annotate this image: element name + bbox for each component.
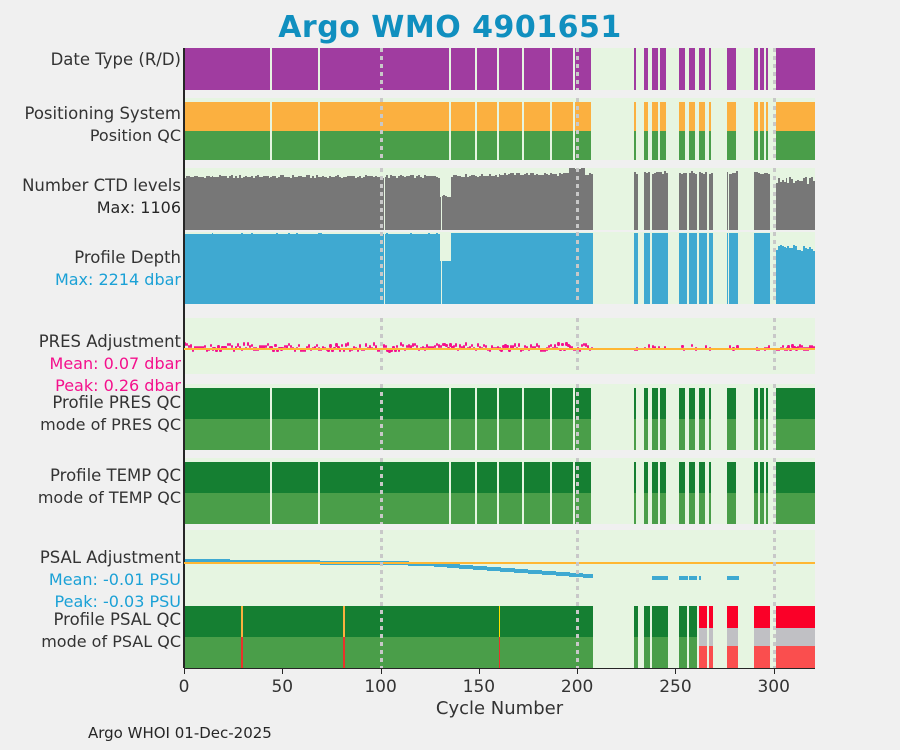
temp-qc-bar-bottom: [499, 493, 523, 524]
temp-qc-bar-top: [272, 462, 317, 493]
profile-depth-bar: [736, 233, 738, 304]
pres-qc-bar-top: [679, 388, 685, 419]
pres-qc-bar-bottom: [766, 419, 768, 450]
ctd-levels-bar: [591, 174, 593, 230]
psal-qc-flag-top: [241, 606, 243, 637]
psal-qc-bar-bottom: [272, 637, 319, 668]
gridline-300: [773, 48, 776, 90]
pres-adjustment-point: [365, 343, 367, 346]
profile-depth-bar: [695, 233, 697, 304]
profile-depth-bar: [591, 233, 593, 304]
position-qc-bar: [477, 131, 497, 160]
pres-qc-bar-bottom: [552, 419, 574, 450]
x-tick-200: [577, 668, 578, 674]
pres-qc-bar-bottom: [499, 419, 523, 450]
psal-qc-bar-top: [652, 606, 660, 637]
pres-qc-bar-top: [766, 388, 768, 419]
pres-qc-bar-bottom: [709, 419, 711, 450]
pres-qc-bar-top: [727, 388, 737, 419]
position-qc-bar: [652, 131, 658, 160]
psal-qc-bar-bottom: [524, 637, 552, 668]
x-tick-label-0: 0: [179, 677, 190, 697]
x-tick-label-150: 150: [463, 677, 495, 697]
row-label-positioning-system-sub1: Position QC: [90, 126, 181, 145]
psal-qc-bar-bottom: [552, 637, 576, 668]
pres-qc-bar-bottom: [524, 419, 550, 450]
gridline-100: [380, 48, 383, 90]
row-label-profile-pres-qc: Profile PRES QC: [52, 393, 181, 412]
position-qc-bar: [776, 131, 815, 160]
temp-qc-bar-bottom: [660, 493, 666, 524]
positioning-system-bar: [689, 102, 695, 131]
date-type-bar: [320, 48, 450, 90]
temp-qc-bar-bottom: [644, 493, 648, 524]
row-label-pres-adjustment: PRES Adjustment: [39, 332, 181, 351]
ctd-levels-bar: [768, 174, 770, 230]
psal-qc-flag-bottom: [241, 637, 243, 668]
psal-qc-bar-bottom: [727, 646, 739, 668]
gridline-200: [576, 48, 579, 90]
row-label-number-ctd-levels-sub1: Max: 1106: [97, 198, 181, 217]
temp-qc-bar-top: [754, 462, 758, 493]
x-tick-label-250: 250: [659, 677, 691, 697]
panel-date-type: [184, 48, 815, 90]
pres-adjustment-point: [341, 344, 343, 347]
psal-qc-bar-missing: [699, 628, 707, 646]
date-type-bar: [524, 48, 550, 90]
gridline-300: [773, 602, 776, 668]
psal-qc-bar-bottom: [679, 637, 687, 668]
row-labels: Date Type (R/D)Positioning SystemPositio…: [0, 0, 181, 750]
temp-qc-bar-top: [760, 462, 764, 493]
date-type-bar: [679, 48, 685, 90]
row-label-profile-temp-qc-sub1: mode of TEMP QC: [38, 488, 181, 507]
profile-depth-bar: [666, 233, 668, 304]
temp-qc-bar-bottom: [776, 493, 815, 524]
x-tick-label-50: 50: [271, 677, 293, 697]
positioning-system-bar: [320, 102, 450, 131]
temp-qc-bar-top: [776, 462, 815, 493]
position-qc-bar: [184, 131, 270, 160]
pres-adjustment-point: [465, 342, 467, 345]
pres-qc-bar-top: [644, 388, 648, 419]
gridline-200: [576, 384, 579, 450]
pres-adjustment-point: [308, 344, 310, 347]
profile-depth-bar: [705, 233, 707, 304]
gridline-100: [380, 458, 383, 524]
psal-adjustment-point: [685, 576, 687, 580]
positioning-system-bar: [477, 102, 497, 131]
position-qc-bar: [709, 131, 711, 160]
psal-qc-bar-missing: [776, 628, 815, 646]
temp-qc-bar-top: [689, 462, 695, 493]
psal-qc-bar-bottom: [634, 637, 638, 668]
x-tick-label-300: 300: [757, 677, 789, 697]
profile-depth-bar: [768, 233, 770, 304]
pres-adjustment-point: [298, 344, 300, 347]
psal-qc-bar-top: [644, 606, 650, 637]
psal-adjustment-point: [699, 576, 701, 580]
panel-psal-qc: [184, 602, 815, 668]
gridline-100: [380, 232, 383, 304]
temp-qc-bar-bottom: [524, 493, 550, 524]
temp-qc-bar-bottom: [760, 493, 764, 524]
row-label-psal-adjustment-sub2: Peak: -0.03 PSU: [55, 592, 181, 611]
position-qc-bar: [634, 131, 636, 160]
gridline-200: [576, 530, 579, 602]
psal-qc-bar-bottom: [766, 646, 770, 668]
pres-qc-bar-top: [652, 388, 658, 419]
date-type-bar: [689, 48, 695, 90]
pres-adjustment-point: [648, 344, 650, 347]
position-qc-bar: [552, 131, 574, 160]
footer-credit: Argo WHOI 01-Dec-2025: [88, 724, 272, 742]
pres-qc-bar-top: [524, 388, 550, 419]
x-axis-label: Cycle Number: [184, 698, 815, 719]
gridline-200: [576, 458, 579, 524]
ctd-levels-bar: [705, 172, 707, 230]
pres-qc-bar-bottom: [320, 419, 450, 450]
pres-qc-bar-top: [499, 388, 523, 419]
row-label-psal-adjustment-sub1: Mean: -0.01 PSU: [49, 570, 181, 589]
gridline-100: [380, 384, 383, 450]
psal-qc-bar-top: [552, 606, 576, 637]
temp-qc-bar-top: [660, 462, 666, 493]
row-label-profile-depth: Profile Depth: [74, 248, 181, 267]
gridline-100: [380, 530, 383, 602]
pres-adjustment-point: [455, 343, 457, 346]
psal-qc-bar-top: [499, 606, 525, 637]
row-label-profile-pres-qc-sub1: mode of PRES QC: [40, 415, 181, 434]
date-type-bar: [660, 48, 666, 90]
temp-qc-bar-bottom: [451, 493, 475, 524]
positioning-system-bar: [727, 102, 737, 131]
date-type-bar: [477, 48, 497, 90]
psal-qc-bar-top: [766, 606, 770, 628]
temp-qc-bar-bottom: [652, 493, 658, 524]
pres-qc-bar-top: [451, 388, 475, 419]
positioning-system-bar: [451, 102, 475, 131]
pres-adjustment-point: [691, 344, 693, 347]
pres-qc-bar-top: [709, 388, 711, 419]
temp-qc-bar-bottom: [477, 493, 497, 524]
date-type-bar: [272, 48, 317, 90]
panel-depth: [184, 232, 815, 304]
psal-adjustment-point: [695, 576, 697, 580]
x-tick-label-200: 200: [561, 677, 593, 697]
pres-qc-bar-top: [689, 388, 695, 419]
ctd-levels-bar: [685, 173, 687, 230]
gridline-300: [773, 458, 776, 524]
temp-qc-bar-bottom: [320, 493, 450, 524]
temp-qc-bar-bottom: [699, 493, 705, 524]
psal-qc-bar-top: [727, 606, 739, 628]
psal-qc-bar-bottom: [184, 637, 272, 668]
profile-depth-bar: [685, 233, 687, 304]
date-type-bar: [451, 48, 475, 90]
pres-qc-bar-top: [776, 388, 815, 419]
row-label-pres-adjustment-sub1: Mean: 0.07 dbar: [50, 354, 181, 373]
ctd-levels-bar: [711, 173, 713, 230]
x-tick-300: [774, 668, 775, 674]
pres-qc-bar-bottom: [689, 419, 695, 450]
pres-qc-bar-bottom: [634, 419, 636, 450]
temp-qc-bar-bottom: [689, 493, 695, 524]
psal-qc-bar-top: [477, 606, 499, 637]
date-type-bar: [766, 48, 768, 90]
pres-qc-bar-top: [477, 388, 497, 419]
psal-qc-bar-bottom: [451, 637, 477, 668]
pres-adjustment-point: [518, 343, 520, 346]
x-tick-150: [479, 668, 480, 674]
temp-qc-bar-bottom: [552, 493, 574, 524]
pres-qc-bar-bottom: [660, 419, 666, 450]
date-type-bar: [760, 48, 764, 90]
row-label-date-type: Date Type (R/D): [51, 50, 181, 69]
date-type-bar: [699, 48, 705, 90]
gridline-300: [773, 384, 776, 450]
psal-qc-flag-bottom: [499, 637, 501, 668]
gridline-300: [773, 318, 776, 374]
temp-qc-bar-bottom: [272, 493, 317, 524]
temp-qc-bar-top: [184, 462, 270, 493]
position-qc-bar: [524, 131, 550, 160]
gridline-200: [576, 318, 579, 374]
temp-qc-bar-top: [652, 462, 658, 493]
positioning-system-bar: [499, 102, 523, 131]
ctd-levels-bar: [666, 173, 668, 230]
pres-qc-bar-top: [699, 388, 705, 419]
psal-qc-flag-bottom: [343, 637, 345, 668]
psal-qc-bar-top: [184, 606, 272, 637]
temp-qc-bar-top: [634, 462, 636, 493]
temp-qc-bar-bottom: [754, 493, 758, 524]
positioning-system-bar: [760, 102, 764, 131]
pres-qc-bar-bottom: [184, 419, 270, 450]
position-qc-bar: [644, 131, 648, 160]
gridline-100: [380, 168, 383, 230]
pres-qc-bar-top: [660, 388, 666, 419]
row-label-profile-psal-qc-sub1: mode of PSAL QC: [41, 632, 181, 651]
row-label-profile-temp-qc: Profile TEMP QC: [50, 466, 181, 485]
position-qc-bar: [760, 131, 764, 160]
psal-qc-bar-top: [660, 606, 668, 637]
gridline-100: [380, 318, 383, 374]
psal-qc-flag-top: [499, 606, 501, 637]
psal-qc-bar-top: [699, 606, 707, 628]
x-tick-50: [282, 668, 283, 674]
pres-qc-bar-top: [272, 388, 317, 419]
panel-psal-adj: [184, 530, 815, 602]
positioning-system-bar: [184, 102, 270, 131]
panel-pres-qc: [184, 384, 815, 450]
date-type-bar: [634, 48, 636, 90]
positioning-system-bar: [524, 102, 550, 131]
gridline-300: [773, 530, 776, 602]
temp-qc-bar-bottom: [184, 493, 270, 524]
ctd-levels-bar: [695, 174, 697, 230]
date-type-bar: [776, 48, 815, 90]
gridline-200: [576, 232, 579, 304]
pres-qc-bar-bottom: [776, 419, 815, 450]
positioning-system-bar: [766, 102, 768, 131]
pres-qc-bar-bottom: [272, 419, 317, 450]
pres-qc-bar-top: [634, 388, 636, 419]
date-type-bar: [644, 48, 648, 90]
position-qc-bar: [272, 131, 317, 160]
psal-qc-bar-missing: [766, 628, 770, 646]
psal-qc-bar-top: [679, 606, 687, 637]
pres-qc-bar-top: [754, 388, 758, 419]
y-axis-spine: [183, 48, 185, 668]
ctd-levels-bar: [736, 171, 738, 230]
pres-qc-bar-bottom: [679, 419, 685, 450]
temp-qc-bar-top: [644, 462, 648, 493]
psal-qc-bar-bottom: [709, 646, 713, 668]
pres-qc-bar-bottom: [451, 419, 475, 450]
pres-qc-bar-bottom: [760, 419, 764, 450]
pres-adjustment-point: [274, 344, 276, 347]
panel-pres-adj: [184, 318, 815, 374]
psal-qc-bar-bottom: [644, 637, 650, 668]
pres-qc-bar-top: [320, 388, 450, 419]
psal-qc-bar-top: [634, 606, 638, 637]
positioning-system-bar: [754, 102, 758, 131]
psal-adjustment-point: [591, 574, 593, 578]
pres-adjustment-point: [347, 342, 349, 345]
date-type-bar: [552, 48, 574, 90]
gridline-300: [773, 98, 776, 160]
pres-adjustment-point: [557, 342, 559, 345]
row-label-profile-depth-sub1: Max: 2214 dbar: [55, 270, 181, 289]
pres-qc-bar-bottom: [727, 419, 737, 450]
psal-qc-bar-top: [689, 606, 697, 637]
temp-qc-bar-bottom: [679, 493, 685, 524]
gridline-100: [380, 602, 383, 668]
position-qc-bar: [320, 131, 450, 160]
psal-qc-bar-missing: [709, 628, 713, 646]
temp-qc-bar-top: [524, 462, 550, 493]
position-qc-bar: [689, 131, 695, 160]
psal-qc-bar-top: [451, 606, 477, 637]
date-type-bar: [184, 48, 270, 90]
positioning-system-bar: [644, 102, 648, 131]
panel-ctd: [184, 168, 815, 230]
temp-qc-bar-top: [766, 462, 768, 493]
psal-qc-bar-bottom: [499, 637, 525, 668]
temp-qc-bar-top: [499, 462, 523, 493]
temp-qc-bar-top: [552, 462, 574, 493]
plot-area: [184, 48, 815, 668]
temp-qc-bar-top: [709, 462, 711, 493]
row-label-number-ctd-levels: Number CTD levels: [22, 176, 181, 195]
psal-qc-bar-missing: [727, 628, 739, 646]
position-qc-bar: [660, 131, 666, 160]
psal-qc-bar-bottom: [776, 646, 815, 668]
row-label-psal-adjustment: PSAL Adjustment: [40, 548, 181, 567]
temp-qc-bar-bottom: [727, 493, 737, 524]
pres-zero-reference-line: [184, 348, 815, 350]
positioning-system-bar: [272, 102, 317, 131]
temp-qc-bar-bottom: [766, 493, 768, 524]
x-tick-0: [184, 668, 185, 674]
positioning-system-bar: [634, 102, 636, 131]
x-tick-100: [381, 668, 382, 674]
panel-positioning: [184, 98, 815, 160]
positioning-system-bar: [660, 102, 666, 131]
date-type-bar: [652, 48, 658, 90]
temp-qc-bar-top: [451, 462, 475, 493]
psal-qc-bar-top: [776, 606, 815, 628]
gridline-300: [773, 168, 776, 230]
psal-qc-flag-top: [343, 606, 345, 637]
pres-qc-bar-bottom: [699, 419, 705, 450]
psal-qc-bar-bottom: [477, 637, 499, 668]
position-qc-bar: [699, 131, 705, 160]
position-qc-bar: [727, 131, 737, 160]
temp-qc-bar-top: [699, 462, 705, 493]
pres-adjustment-point: [243, 342, 245, 345]
x-axis: 050100150200250300: [184, 668, 815, 669]
gridline-200: [576, 98, 579, 160]
position-qc-bar: [451, 131, 475, 160]
temp-qc-bar-bottom: [709, 493, 711, 524]
psal-qc-bar-bottom: [660, 637, 668, 668]
gridline-100: [380, 98, 383, 160]
psal-qc-bar-bottom: [699, 646, 707, 668]
positioning-system-bar: [552, 102, 574, 131]
pres-qc-bar-bottom: [644, 419, 648, 450]
date-type-bar: [499, 48, 523, 90]
ctd-levels-bar: [636, 174, 638, 230]
x-tick-label-100: 100: [364, 677, 396, 697]
psal-adjustment-point: [666, 576, 668, 580]
date-type-bar: [754, 48, 758, 90]
positioning-system-bar: [709, 102, 711, 131]
positioning-system-bar: [652, 102, 658, 131]
pres-qc-bar-top: [760, 388, 764, 419]
temp-qc-bar-top: [679, 462, 685, 493]
ctd-levels-bar: [648, 172, 650, 230]
pres-qc-bar-top: [184, 388, 270, 419]
row-label-positioning-system: Positioning System: [24, 104, 181, 123]
profile-depth-bar: [648, 233, 650, 304]
profile-depth-bar: [711, 233, 713, 304]
x-tick-250: [675, 668, 676, 674]
positioning-system-bar: [776, 102, 815, 131]
psal-qc-bar-top: [272, 606, 319, 637]
profile-depth-bar: [636, 233, 638, 304]
psal-qc-bar-top: [320, 606, 452, 637]
psal-qc-bar-top: [524, 606, 552, 637]
panel-temp-qc: [184, 458, 815, 524]
gridline-300: [773, 232, 776, 304]
temp-qc-bar-top: [320, 462, 450, 493]
temp-qc-bar-top: [727, 462, 737, 493]
psal-qc-bar-bottom: [320, 637, 452, 668]
pres-qc-bar-bottom: [652, 419, 658, 450]
psal-zero-reference-line: [184, 562, 815, 564]
pres-adjustment-point: [561, 343, 563, 346]
gridline-200: [576, 602, 579, 668]
position-qc-bar: [766, 131, 768, 160]
psal-qc-bar-bottom: [689, 637, 697, 668]
position-qc-bar: [499, 131, 523, 160]
pres-adjustment-point: [402, 344, 404, 347]
pres-qc-bar-bottom: [754, 419, 758, 450]
date-type-bar: [727, 48, 737, 90]
temp-qc-bar-top: [477, 462, 497, 493]
